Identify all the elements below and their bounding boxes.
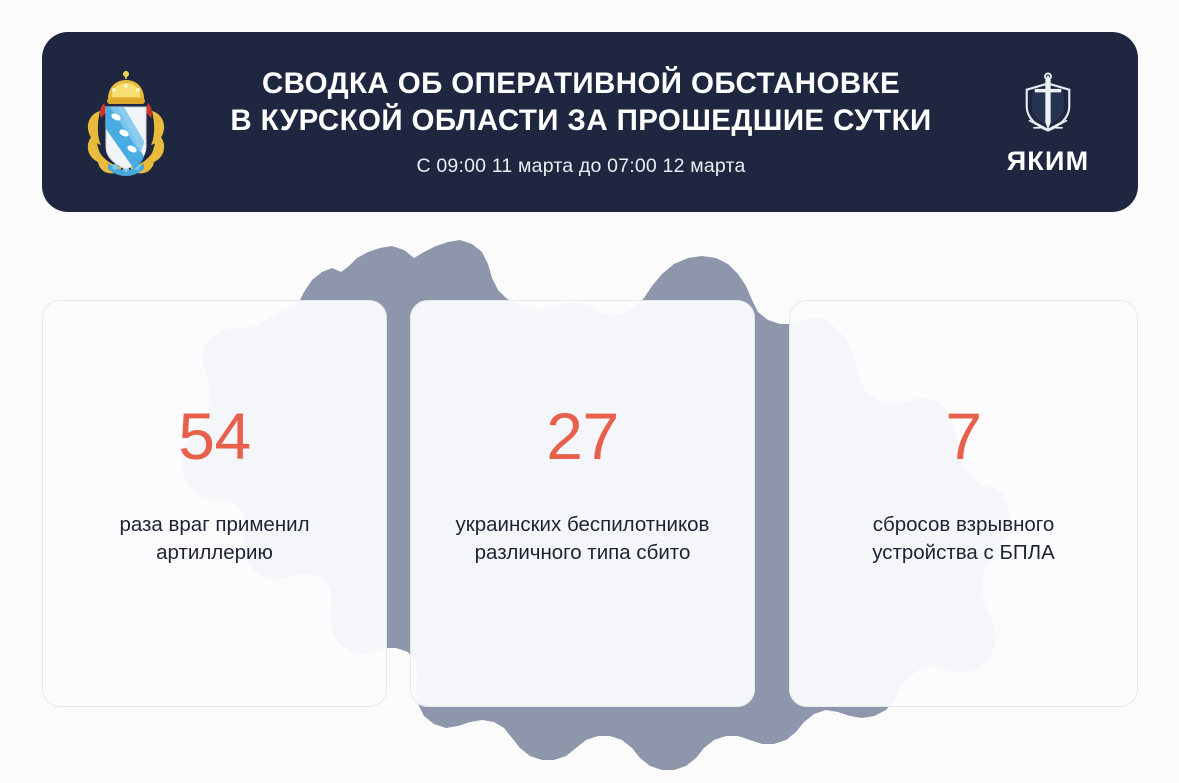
brand-name: ЯКИМ <box>1007 146 1090 177</box>
header-banner: СВОДКА ОБ ОПЕРАТИВНОЙ ОБСТАНОВКЕ В КУРСК… <box>42 32 1138 212</box>
header-text-block: СВОДКА ОБ ОПЕРАТИВНОЙ ОБСТАНОВКЕ В КУРСК… <box>178 66 984 178</box>
stat-cards-row: 54 раза враг применил артиллерию 27 укра… <box>0 300 1179 707</box>
stat-label: раза враг применил артиллерию <box>105 511 323 566</box>
brand-block: ЯКИМ <box>984 67 1112 177</box>
stat-card-explosive-drops: 7 сбросов взрывного устройства с БПЛА <box>789 300 1138 707</box>
stat-label: сбросов взрывного устройства с БПЛА <box>858 511 1069 566</box>
header-period-subtitle: С 09:00 11 марта до 07:00 12 марта <box>188 155 974 178</box>
page-title: СВОДКА ОБ ОПЕРАТИВНОЙ ОБСТАНОВКЕ В КУРСК… <box>188 66 974 139</box>
infographic-page: СВОДКА ОБ ОПЕРАТИВНОЙ ОБСТАНОВКЕ В КУРСК… <box>0 0 1179 783</box>
stat-number: 27 <box>546 403 618 469</box>
stat-card-artillery: 54 раза враг применил артиллерию <box>42 300 387 707</box>
stat-card-drones: 27 украинских беспилотников различного т… <box>410 300 755 707</box>
shield-sword-icon <box>1017 67 1079 144</box>
stat-label: украинских беспилотников различного типа… <box>442 511 724 566</box>
stat-number: 54 <box>178 403 250 469</box>
stat-number: 7 <box>945 403 981 469</box>
coat-of-arms-icon <box>74 63 178 181</box>
